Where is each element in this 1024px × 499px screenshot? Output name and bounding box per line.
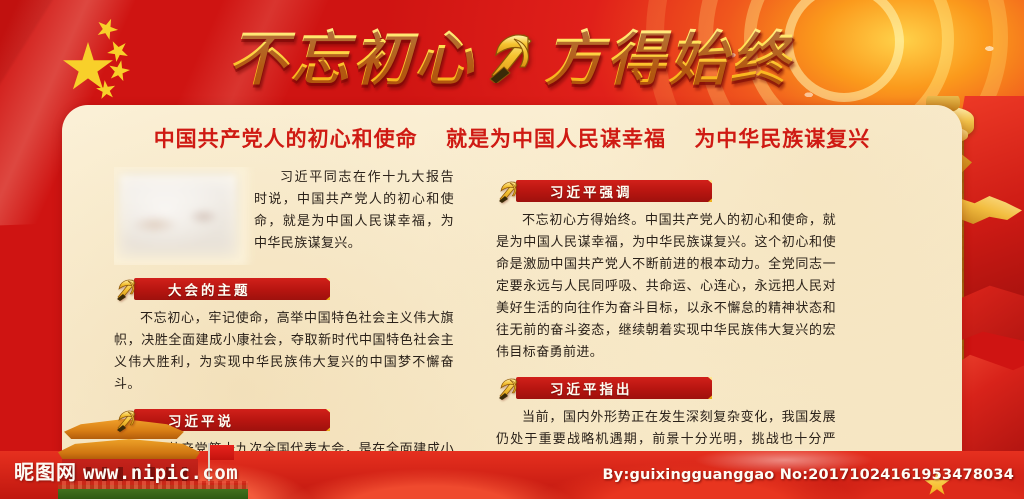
banner-label: 习近平指出 <box>550 378 633 398</box>
banner-bar: 习近平指出 <box>516 377 712 399</box>
lead-block: 习近平同志在作十九大报告时说，中国共产党人的初心和使命，就是为中国人民谋幸福，为… <box>114 167 454 265</box>
poster-headline: 不忘初心 方得始终 <box>150 14 870 92</box>
headline-text-left: 不忘初心 <box>228 11 476 96</box>
poster-canvas: 不忘初心 方得始终 <box>0 0 1024 499</box>
subtitle-part-3: 为中华民族谋复兴 <box>694 127 870 151</box>
content-card: 中国共产党人的初心和使命 就是为中国人民谋幸福 为中华民族谋复兴 习近平同志在作… <box>62 105 962 463</box>
banner-bar: 习近平强调 <box>516 180 712 202</box>
banner-label: 习近平强调 <box>550 181 633 201</box>
banner-da-hui-de-zhu-ti: 大会的主题 <box>114 277 332 301</box>
banner-label: 大会的主题 <box>168 279 251 299</box>
subtitle-part-1: 中国共产党人的初心和使命 <box>154 127 418 151</box>
card-subtitle: 中国共产党人的初心和使命 就是为中国人民谋幸福 为中华民族谋复兴 <box>62 123 962 153</box>
banner-xi-jinping-zhichu: 习近平指出 <box>496 376 714 400</box>
author-credit: By:guixingguanggao No:201710241619534780… <box>603 467 1014 483</box>
party-emblem-icon <box>496 178 520 203</box>
banner-bar: 大会的主题 <box>134 278 330 300</box>
party-emblem-icon <box>114 276 138 301</box>
headline-text-right: 方得始终 <box>544 11 792 96</box>
xi-jinping-speech-photo <box>114 169 242 261</box>
subtitle-part-2: 就是为中国人民谋幸福 <box>446 127 666 151</box>
party-emblem-icon <box>496 375 520 400</box>
right-section-0-body: 不忘初心方得始终。中国共产党人的初心和使命，就是为中国人民谋幸福，为中华民族谋复… <box>496 210 836 364</box>
site-watermark: 昵图网 www.nipic.com <box>14 456 238 485</box>
banner-xi-jinping-qiangdiao: 习近平强调 <box>496 179 714 203</box>
party-emblem-icon <box>114 407 138 432</box>
site-url: www.nipic.com <box>83 462 238 484</box>
site-name-cn: 昵图网 <box>14 456 77 485</box>
left-section-0-body: 不忘初心，牢记使命，高举中国特色社会主义伟大旗帜，决胜全面建成小康社会，夺取新时… <box>114 308 454 396</box>
right-column: 习近平强调 不忘初心方得始终。中国共产党人的初心和使命，就是为中国人民谋幸福，为… <box>496 167 836 463</box>
hammer-sickle-icon <box>484 27 536 83</box>
